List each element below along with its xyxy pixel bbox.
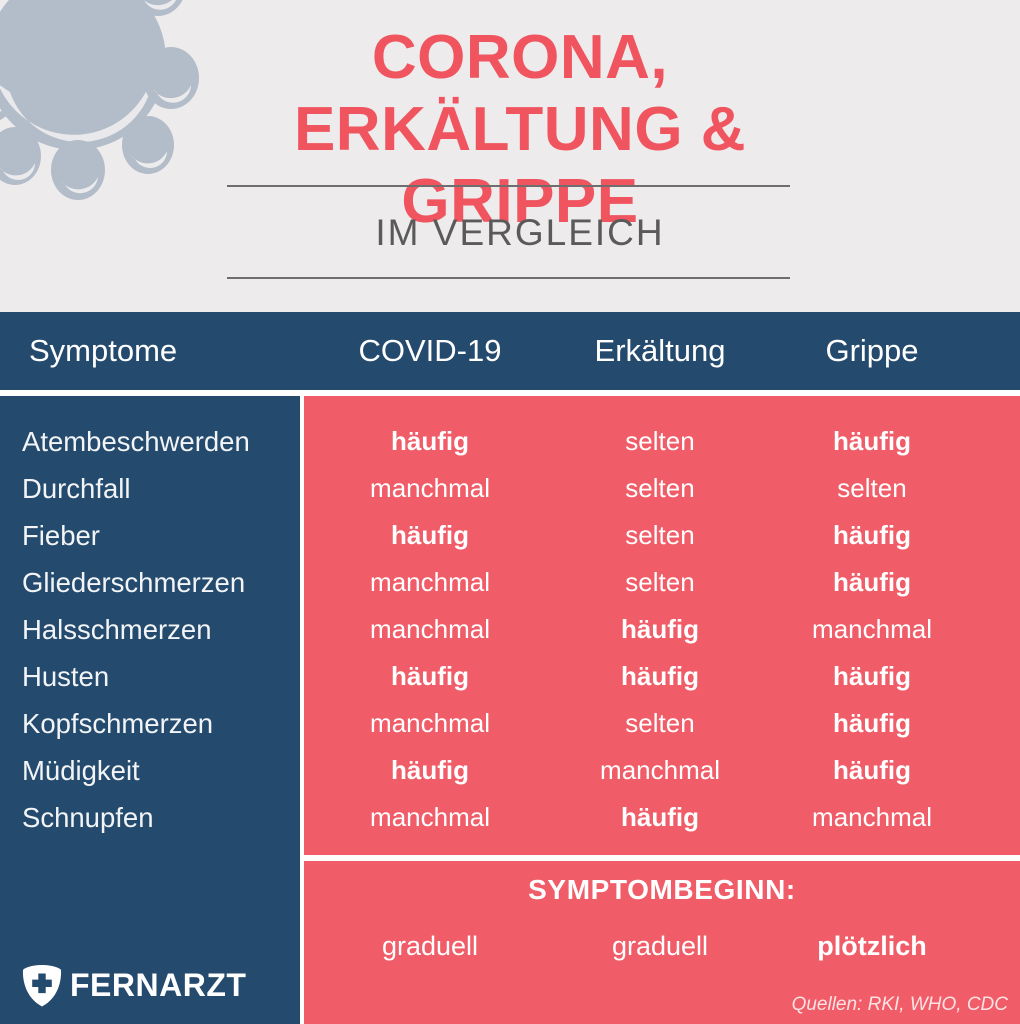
symptom-label: Gliederschmerzen [22,559,300,606]
cell-grippe: häufig [772,418,972,465]
column-header-covid: COVID-19 [305,312,555,390]
fernarzt-logo: FERNARZT [22,962,252,1008]
cell-grippe: häufig [772,700,972,747]
infographic-root: CORONA, ERKÄLTUNG & GRIPPE IM VERGLEICH … [0,0,1020,1024]
symptom-label: Müdigkeit [22,747,300,794]
comparison-panel: häufigseltenhäufigmanchmalseltenseltenhä… [304,396,1020,1024]
sources-note: Quellen: RKI, WHO, CDC [792,994,1008,1016]
cell-erkaeltung: selten [545,465,775,512]
cell-covid: manchmal [305,465,555,512]
table-row: manchmalseltenselten [304,465,1020,512]
cell-covid: häufig [305,747,555,794]
symptom-onset-section: SYMPTOMBEGINN: graduellgraduellplötzlich… [304,861,1020,1024]
cell-grippe: häufig [772,512,972,559]
symptom-label: Kopfschmerzen [22,700,300,747]
header-section: CORONA, ERKÄLTUNG & GRIPPE IM VERGLEICH [0,0,1020,312]
column-header-grippe: Grippe [772,312,972,390]
title-divider-top [227,185,790,187]
cell-covid: häufig [305,418,555,465]
cell-grippe: manchmal [772,606,972,653]
onset-title: SYMPTOMBEGINN: [304,874,1020,906]
symptom-values-grid: häufigseltenhäufigmanchmalseltenseltenhä… [304,396,1020,855]
symptom-column: AtembeschwerdenDurchfallFieberGliedersch… [0,396,300,1024]
onset-value-erkaeltung: graduell [545,923,775,969]
onset-values-row: graduellgraduellplötzlich [304,923,1020,969]
cell-grippe: häufig [772,747,972,794]
symptom-list: AtembeschwerdenDurchfallFieberGliedersch… [22,418,300,841]
column-header-erkaeltung: Erkältung [545,312,775,390]
logo-wordmark: FERNARZT [70,962,246,1008]
table-row: häufigmanchmalhäufig [304,747,1020,794]
cell-erkaeltung: häufig [545,653,775,700]
page-subtitle: IM VERGLEICH [180,207,860,259]
symptom-label: Schnupfen [22,794,300,841]
cell-erkaeltung: selten [545,512,775,559]
cell-grippe: selten [772,465,972,512]
cell-erkaeltung: selten [545,418,775,465]
cell-erkaeltung: häufig [545,794,775,841]
table-row: häufighäufighäufig [304,653,1020,700]
onset-value-covid: graduell [305,923,555,969]
onset-value-grippe: plötzlich [772,923,972,969]
cell-erkaeltung: manchmal [545,747,775,794]
symptom-label: Husten [22,653,300,700]
table-column-header: Symptome COVID-19 Erkältung Grippe [0,312,1020,390]
header-text-block: CORONA, ERKÄLTUNG & GRIPPE IM VERGLEICH [180,0,860,312]
table-row: manchmalseltenhäufig [304,559,1020,606]
cell-covid: manchmal [305,559,555,606]
cell-erkaeltung: selten [545,700,775,747]
symptom-label: Durchfall [22,465,300,512]
table-row: manchmalhäufigmanchmal [304,794,1020,841]
table-row: manchmalseltenhäufig [304,700,1020,747]
cell-grippe: manchmal [772,794,972,841]
cell-covid: manchmal [305,794,555,841]
symptom-label: Halsschmerzen [22,606,300,653]
cell-covid: häufig [305,512,555,559]
symptom-label: Fieber [22,512,300,559]
cell-covid: manchmal [305,700,555,747]
cell-erkaeltung: selten [545,559,775,606]
cell-grippe: häufig [772,653,972,700]
cell-erkaeltung: häufig [545,606,775,653]
table-row: manchmalhäufigmanchmal [304,606,1020,653]
page-title: CORONA, ERKÄLTUNG & GRIPPE [180,22,860,238]
table-row: häufigseltenhäufig [304,512,1020,559]
title-divider-bottom [227,277,790,279]
cell-grippe: häufig [772,559,972,606]
shield-cross-icon [22,965,62,1007]
symptom-label: Atembeschwerden [22,418,300,465]
cell-covid: häufig [305,653,555,700]
column-header-symptome: Symptome [29,312,177,390]
table-row: häufigseltenhäufig [304,418,1020,465]
cell-covid: manchmal [305,606,555,653]
